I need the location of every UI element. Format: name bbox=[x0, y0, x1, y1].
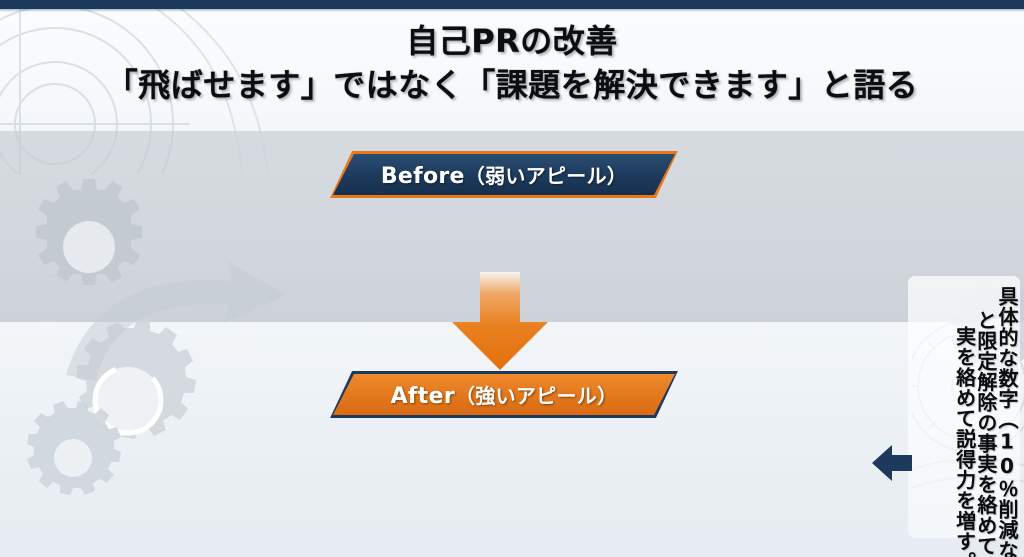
before-ribbon-main: Before bbox=[381, 164, 465, 189]
side-note-column-2: と限定解除の事実を絡めて bbox=[975, 310, 996, 556]
before-ribbon-sub: （弱いアピール） bbox=[465, 164, 627, 188]
down-arrow-icon bbox=[444, 272, 556, 370]
title-line-1: 自己PRの改善 bbox=[0, 22, 1024, 62]
title-line-2: 「飛ばせます」ではなく「課題を解決できます」と語る bbox=[0, 66, 1024, 106]
side-note-column-3: 実を絡めて説得力を増す。 bbox=[953, 326, 974, 557]
before-ribbon-label: Before（弱いアピール） bbox=[381, 160, 627, 189]
slide-title: 自己PRの改善 「飛ばせます」ではなく「課題を解決できます」と語る bbox=[0, 22, 1024, 105]
after-ribbon-sub: （強いアピール） bbox=[455, 384, 617, 408]
left-arrow-icon bbox=[872, 443, 912, 483]
before-ribbon-header: Before（弱いアピール） bbox=[330, 151, 678, 198]
top-accent-bar-shadow bbox=[0, 9, 1024, 12]
side-note-callout: 具体的な数字（10％削減など） と限定解除の事実を絡めて 実を絡めて説得力を増す… bbox=[908, 276, 1020, 538]
top-accent-bar bbox=[0, 0, 1024, 9]
slide-canvas: 自己PRの改善 「飛ばせます」ではなく「課題を解決できます」と語る ドローンの操… bbox=[0, 0, 1024, 557]
side-note-column-1: 具体的な数字（10％削減など） bbox=[996, 286, 1017, 557]
after-ribbon-header: After（強いアピール） bbox=[330, 371, 678, 418]
after-ribbon-main: After bbox=[391, 384, 455, 409]
after-ribbon-label: After（強いアピール） bbox=[391, 380, 618, 409]
